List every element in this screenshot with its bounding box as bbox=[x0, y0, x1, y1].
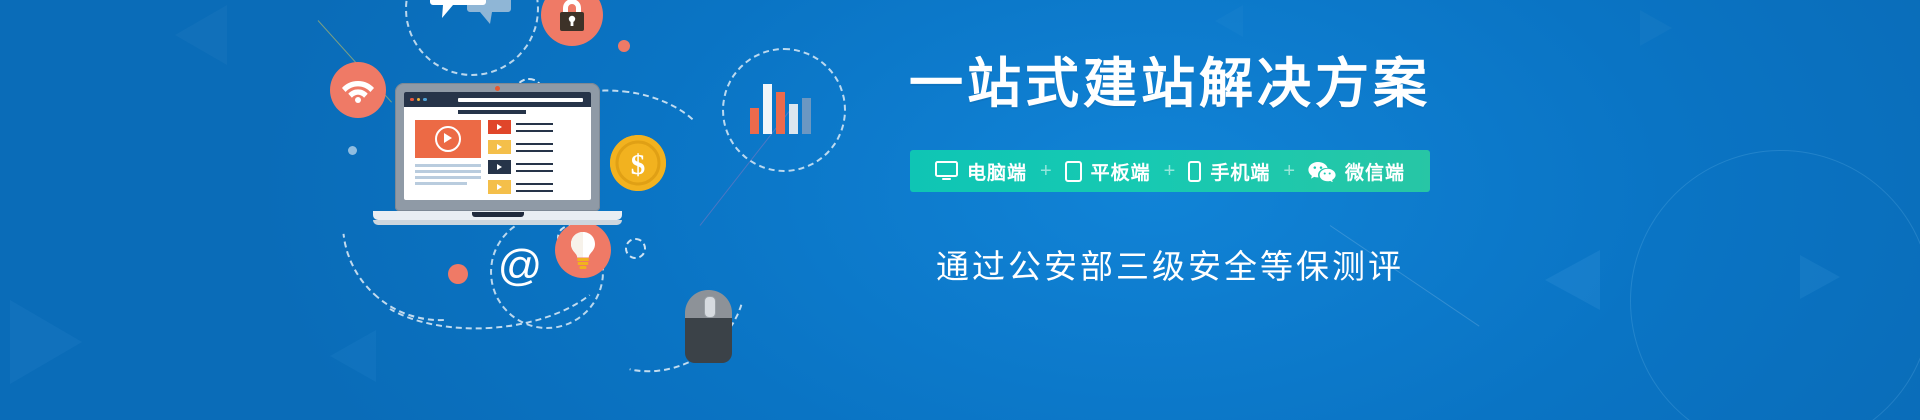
text-line bbox=[415, 170, 481, 173]
laptop-device bbox=[395, 83, 600, 211]
at-sign-icon: @ bbox=[496, 242, 544, 290]
video-thumbnail bbox=[488, 120, 511, 134]
text-line bbox=[415, 176, 481, 179]
badge-separator: + bbox=[1281, 160, 1297, 183]
platform-badge-inner: 电脑端 + 平板端 + bbox=[910, 150, 1430, 192]
text-line bbox=[516, 183, 553, 185]
laptop-screen bbox=[404, 92, 591, 200]
wifi-icon bbox=[330, 62, 386, 118]
laptop-body bbox=[395, 83, 600, 211]
page-subheader-line bbox=[458, 110, 526, 114]
text-line bbox=[516, 190, 553, 192]
text-line bbox=[516, 123, 553, 125]
headline: 一站式建站解决方案 bbox=[790, 55, 1550, 114]
play-button-icon bbox=[435, 126, 461, 152]
accent-dot bbox=[348, 146, 357, 155]
text-line bbox=[516, 143, 553, 145]
text-line bbox=[516, 130, 553, 132]
video-hero-block bbox=[415, 120, 481, 158]
browser-address-bar bbox=[458, 98, 583, 103]
text-line bbox=[415, 164, 481, 167]
hero-text-column: 一站式建站解决方案 电脑端 + bbox=[790, 0, 1920, 420]
accent-dot bbox=[448, 264, 468, 284]
platform-label-wechat: 微信端 bbox=[1345, 158, 1405, 185]
tablet-icon bbox=[1065, 161, 1082, 182]
text-line bbox=[415, 182, 467, 185]
lock-icon bbox=[541, 0, 603, 46]
lightbulb-icon bbox=[555, 222, 611, 278]
platform-label-mobile: 手机端 bbox=[1210, 158, 1270, 185]
video-thumbnail bbox=[488, 160, 511, 174]
mouse-icon bbox=[685, 290, 732, 363]
dollar-coin-icon: $ bbox=[610, 135, 666, 191]
platform-item-wechat[interactable]: 微信端 bbox=[1297, 158, 1416, 185]
accent-dot bbox=[618, 40, 630, 52]
video-thumbnail bbox=[488, 180, 511, 194]
browser-chrome bbox=[404, 92, 591, 107]
platform-item-desktop[interactable]: 电脑端 bbox=[924, 158, 1038, 185]
wechat-icon bbox=[1308, 161, 1336, 182]
mouse-wheel bbox=[704, 296, 716, 318]
text-line bbox=[516, 163, 553, 165]
browser-traffic-lights bbox=[410, 98, 427, 102]
platform-badge-bar: 电脑端 + 平板端 + bbox=[790, 150, 1550, 192]
platform-item-tablet[interactable]: 平板端 bbox=[1054, 158, 1162, 185]
svg-text:$: $ bbox=[631, 149, 646, 181]
laptop-trackpad-notch bbox=[472, 212, 524, 217]
platform-item-mobile[interactable]: 手机端 bbox=[1177, 158, 1281, 185]
smartphone-icon bbox=[1188, 161, 1201, 182]
video-thumbnail bbox=[488, 140, 511, 154]
text-line bbox=[516, 150, 553, 152]
platform-label-tablet: 平板端 bbox=[1091, 158, 1151, 185]
laptop-camera-dot bbox=[495, 86, 500, 91]
text-line bbox=[516, 170, 553, 172]
subline: 通过公安部三级安全等保测评 bbox=[790, 240, 1550, 288]
chat-bubble-icon bbox=[430, 0, 512, 34]
hero-banner: $ @ bbox=[0, 0, 1920, 420]
badge-separator: + bbox=[1162, 160, 1178, 183]
laptop-base-shadow bbox=[373, 220, 622, 225]
desktop-monitor-icon bbox=[935, 161, 958, 181]
badge-separator: + bbox=[1038, 160, 1054, 183]
mouse-bottom bbox=[685, 318, 732, 363]
platform-label-desktop: 电脑端 bbox=[967, 158, 1027, 185]
